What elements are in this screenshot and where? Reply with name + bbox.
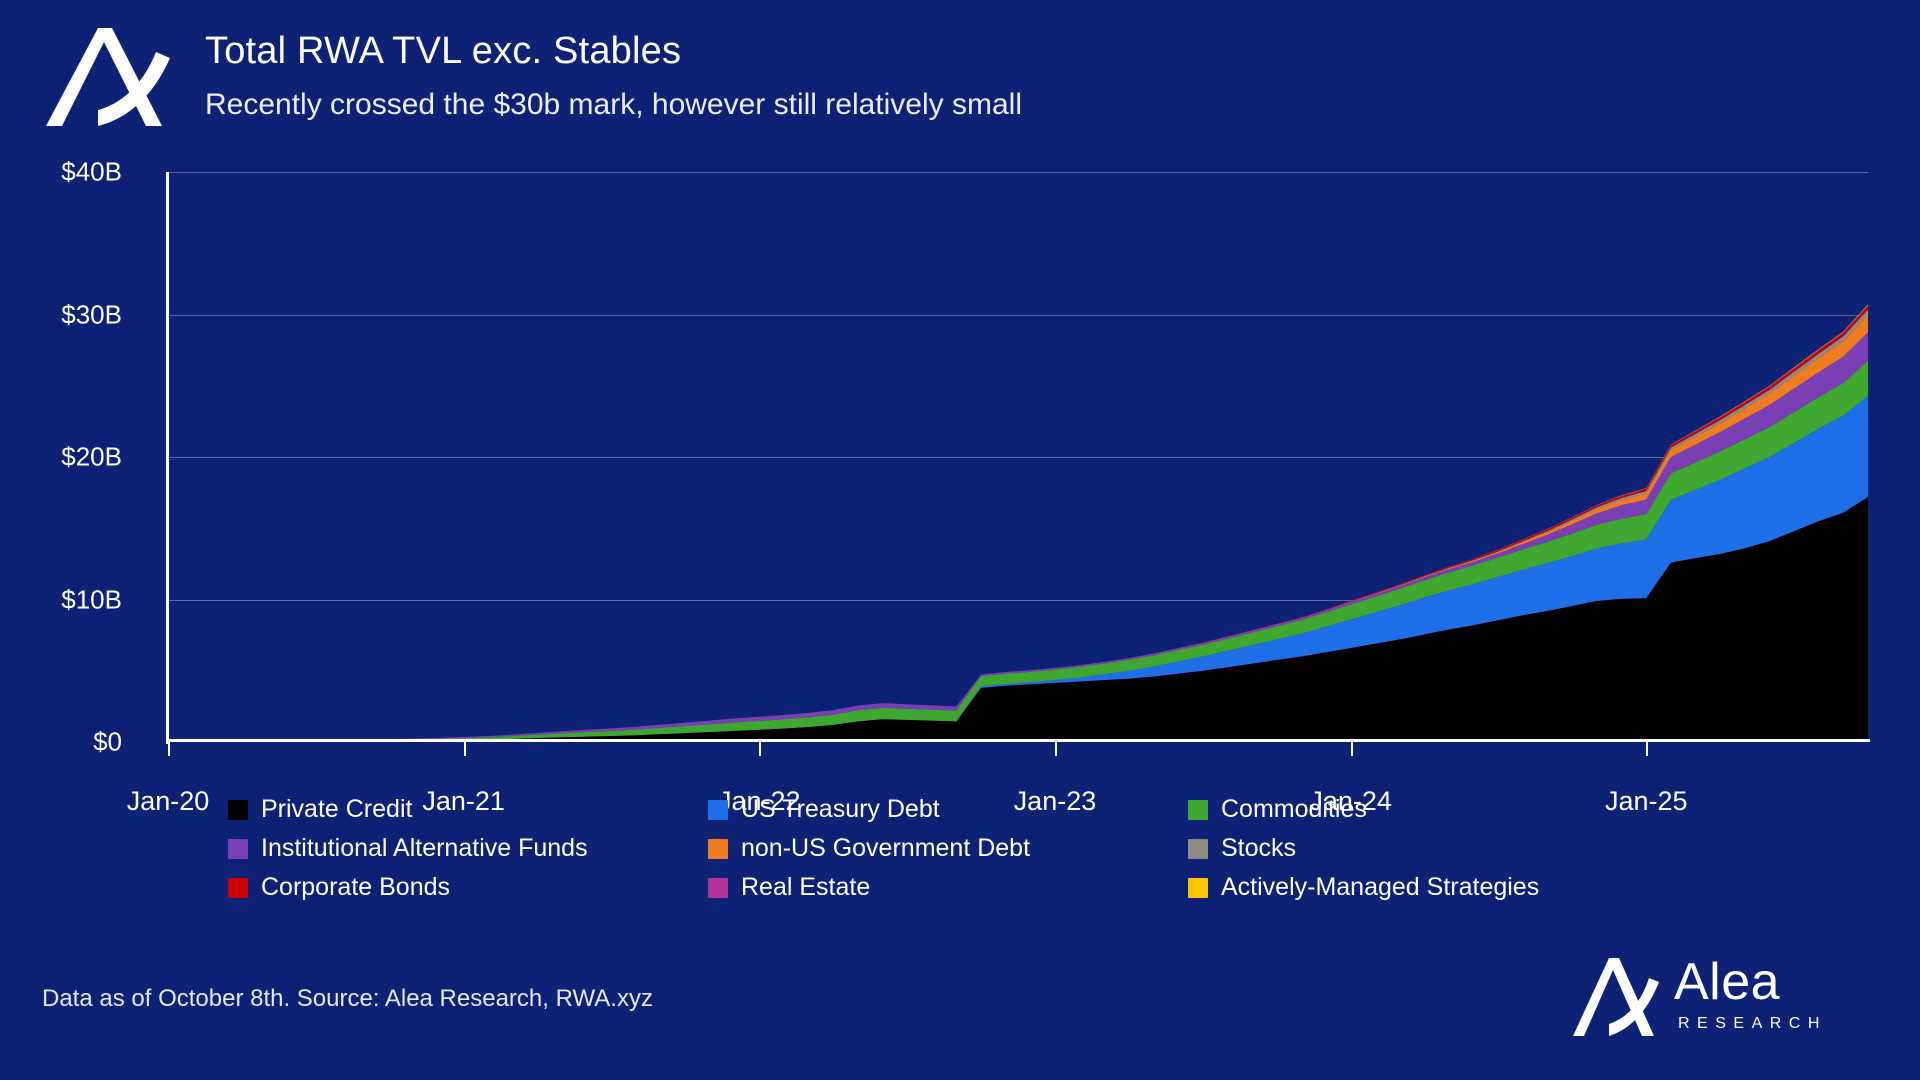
legend-item[interactable]: US Treasury Debt <box>708 790 1188 829</box>
chart-container: $0$10B$20B$30B$40B Jan-20Jan-21Jan-22Jan… <box>0 150 1920 750</box>
page-title: Total RWA TVL exc. Stables <box>205 30 681 73</box>
footer-logo: Alea RESEARCH <box>1570 952 1880 1048</box>
y-axis-tick-label: $20B <box>61 442 122 473</box>
legend-label: Corporate Bonds <box>261 873 450 902</box>
legend-swatch-icon <box>228 800 248 820</box>
x-axis-tick <box>464 742 466 756</box>
legend-item[interactable]: Stocks <box>1188 829 1668 868</box>
chart-page: Total RWA TVL exc. Stables Recently cros… <box>0 0 1920 1080</box>
legend-label: Commodities <box>1221 795 1367 824</box>
legend-swatch-icon <box>1188 839 1208 859</box>
y-axis-tick-label: $30B <box>61 299 122 330</box>
legend-label: Institutional Alternative Funds <box>261 834 588 863</box>
legend-swatch-icon <box>228 839 248 859</box>
legend-label: Stocks <box>1221 834 1296 863</box>
x-axis-tick <box>1055 742 1057 756</box>
alea-logo-mark-icon-footer <box>1570 954 1662 1040</box>
legend-item[interactable]: Actively-Managed Strategies <box>1188 868 1668 907</box>
y-axis-labels: $0$10B$20B$30B$40B <box>0 150 140 750</box>
legend-label: US Treasury Debt <box>741 795 940 824</box>
legend-item[interactable]: Real Estate <box>708 868 1188 907</box>
alea-logo-mark-icon <box>42 22 174 132</box>
legend-label: Private Credit <box>261 795 412 824</box>
footer-logo-subtitle: RESEARCH <box>1678 1016 1827 1032</box>
legend-swatch-icon <box>1188 800 1208 820</box>
page-header: Total RWA TVL exc. Stables Recently cros… <box>0 0 1920 150</box>
stacked-area-series <box>168 172 1868 742</box>
legend-label: non-US Government Debt <box>741 834 1030 863</box>
legend-item[interactable]: Corporate Bonds <box>228 868 708 907</box>
y-axis-tick-label: $10B <box>61 584 122 615</box>
x-axis-tick-label: Jan-20 <box>127 786 210 817</box>
plot-area <box>168 172 1868 742</box>
legend-label: Real Estate <box>741 873 870 902</box>
x-axis-line <box>166 739 1870 742</box>
chart-legend: Private CreditUS Treasury DebtCommoditie… <box>228 790 1708 910</box>
x-axis-tick <box>1646 742 1648 756</box>
y-axis-tick-label: $40B <box>61 157 122 188</box>
source-note: Data as of October 8th. Source: Alea Res… <box>42 985 653 1013</box>
legend-swatch-icon <box>708 839 728 859</box>
legend-label: Actively-Managed Strategies <box>1221 873 1539 902</box>
x-axis-tick <box>1351 742 1353 756</box>
y-axis-line <box>166 172 169 744</box>
footer-logo-wordmark: Alea <box>1674 956 1780 1008</box>
legend-swatch-icon <box>708 878 728 898</box>
legend-item[interactable]: Institutional Alternative Funds <box>228 829 708 868</box>
page-subtitle: Recently crossed the $30b mark, however … <box>205 88 1022 122</box>
legend-item[interactable]: Private Credit <box>228 790 708 829</box>
x-axis-tick <box>759 742 761 756</box>
legend-swatch-icon <box>228 878 248 898</box>
legend-item[interactable]: non-US Government Debt <box>708 829 1188 868</box>
legend-swatch-icon <box>708 800 728 820</box>
y-axis-tick-label: $0 <box>93 727 122 758</box>
x-axis-tick <box>168 742 170 756</box>
legend-item[interactable]: Commodities <box>1188 790 1668 829</box>
legend-swatch-icon <box>1188 878 1208 898</box>
